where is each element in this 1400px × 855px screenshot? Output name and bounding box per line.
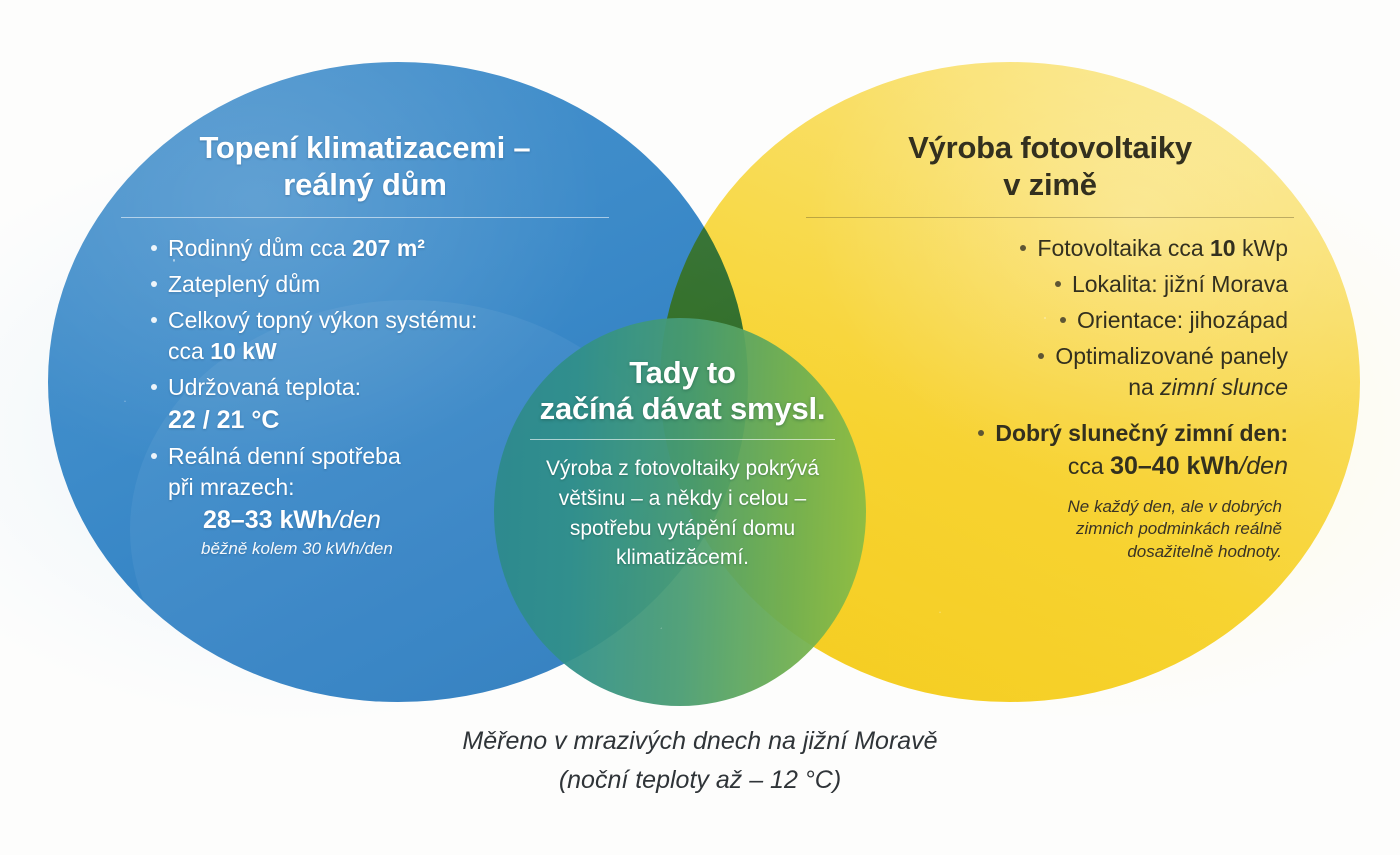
left-bullet-0-lead: Rodinný dům cca [168, 235, 352, 261]
bullet-dot-icon [978, 430, 984, 436]
center-panel: Tady to začíná dávat smysl. Výroba z fot… [505, 355, 860, 573]
left-bullet-3-lead: Udržovaná teplota: [168, 374, 361, 400]
right-title: Výroba fotovoltaiky v zimě [790, 130, 1310, 203]
right-highlight-lead: cca [1068, 453, 1110, 479]
right-bullet-3-lead: Optimalizované panely [1055, 343, 1288, 369]
bullet-dot-icon [1060, 317, 1066, 323]
left-bullet-1-lead: Zateplený dům [168, 271, 320, 297]
bullet-dot-icon [1038, 353, 1044, 359]
left-consumption-unit: /den [332, 506, 381, 534]
footer-caption: Měřeno v mrazivých dnech na jižní Moravě… [0, 722, 1400, 800]
right-bullet-3-cont-lead: na [1128, 374, 1160, 400]
right-highlight-strong: 30–40 kWh [1110, 452, 1239, 480]
center-body-line1: Výroba z fotovoltaiky pokrývá [546, 457, 819, 480]
list-item: Dobrý slunečný zimní den: cca 30–40 kWh/… [790, 419, 1310, 564]
center-title-line2: začíná dávat smysl. [540, 391, 826, 426]
left-bullet-4-lead: Reálná denní spotřeba [168, 443, 401, 469]
right-bullet-0-tail: kWp [1236, 235, 1288, 261]
right-bullet-3-continuation: na zimní slunce [790, 373, 1288, 403]
right-highlight-label: Dobrý slunečný zimní den: [995, 420, 1288, 446]
bullet-dot-icon [151, 317, 157, 323]
left-title-line2: reálný dům [283, 167, 446, 202]
right-subnote-line3: dosažitelně hodnoty. [1127, 542, 1282, 561]
list-item: Orientace: jihozápad [790, 306, 1310, 336]
right-subnote: Ne každý den, ale v dobrých zimnich podm… [790, 496, 1288, 563]
left-title: Topení klimatizacemi – reálný dům [105, 130, 625, 203]
center-body: Výroba z fotovoltaiky pokrývá většinu – … [505, 454, 860, 573]
left-divider [121, 217, 610, 218]
right-bullet-0-lead: Fotovoltaika cca [1037, 235, 1210, 261]
left-bullet-2-cont-lead: cca [168, 338, 210, 364]
right-title-line2: v zimě [1003, 167, 1097, 202]
caption-line2: (noční teploty až – 12 °C) [559, 766, 841, 794]
list-item: Fotovoltaika cca 10 kWp [790, 234, 1310, 264]
right-divider [806, 217, 1295, 218]
center-divider [530, 439, 835, 440]
right-highlight-value: cca 30–40 kWh/den [790, 450, 1288, 483]
list-item: Rodinný dům cca 207 m² [105, 234, 625, 264]
right-subnote-line1: Ne každý den, ale v dobrých [1067, 497, 1282, 516]
left-temperature-value: 22 / 21 °C [168, 406, 279, 434]
center-title-line1: Tady to [629, 355, 736, 390]
left-bullet-2-cont-strong: 10 kW [210, 338, 276, 364]
bullet-dot-icon [151, 245, 157, 251]
right-bullet-list: Fotovoltaika cca 10 kWp Lokalita: jižní … [790, 234, 1310, 563]
center-body-line4: klimatizăcemí. [616, 546, 749, 569]
left-bullet-0-strong: 207 m² [352, 235, 425, 261]
right-panel: Výroba fotovoltaiky v zimě Fotovoltaika … [790, 130, 1310, 569]
left-title-line1: Topení klimatizacemi – [200, 130, 531, 165]
bullet-dot-icon [151, 453, 157, 459]
bullet-dot-icon [1020, 245, 1026, 251]
list-item: Lokalita: jižní Morava [790, 270, 1310, 300]
bullet-dot-icon [1055, 281, 1061, 287]
infographic-canvas: Topení klimatizacemi – reálný dům Rodinn… [0, 0, 1400, 855]
bullet-dot-icon [151, 384, 157, 390]
center-title: Tady to začíná dávat smysl. [505, 355, 860, 427]
right-bullet-2-lead: Orientace: jihozápad [1077, 307, 1288, 333]
bullet-dot-icon [151, 281, 157, 287]
right-bullet-3-cont-italic: zimní slunce [1160, 374, 1288, 400]
left-bullet-2-lead: Celkový topný výkon systému: [168, 307, 477, 333]
right-bullet-0-strong: 10 [1210, 235, 1236, 261]
left-consumption-strong: 28–33 kWh [203, 506, 332, 534]
right-subnote-line2: zimnich podminkách reálně [1076, 519, 1282, 538]
list-item: Zateplený dům [105, 270, 625, 300]
right-highlight-unit: /den [1239, 452, 1288, 480]
right-bullet-1-lead: Lokalita: jižní Morava [1072, 271, 1288, 297]
center-body-line3: spotřebu vytápění domu [570, 517, 795, 540]
caption-line1: Měřeno v mrazivých dnech na jižní Moravě [462, 727, 937, 755]
center-body-line2: většinu – a někdy i celou – [559, 487, 807, 510]
right-title-line1: Výroba fotovoltaiky [908, 130, 1192, 165]
list-item: Optimalizované panely na zimní slunce [790, 342, 1310, 403]
